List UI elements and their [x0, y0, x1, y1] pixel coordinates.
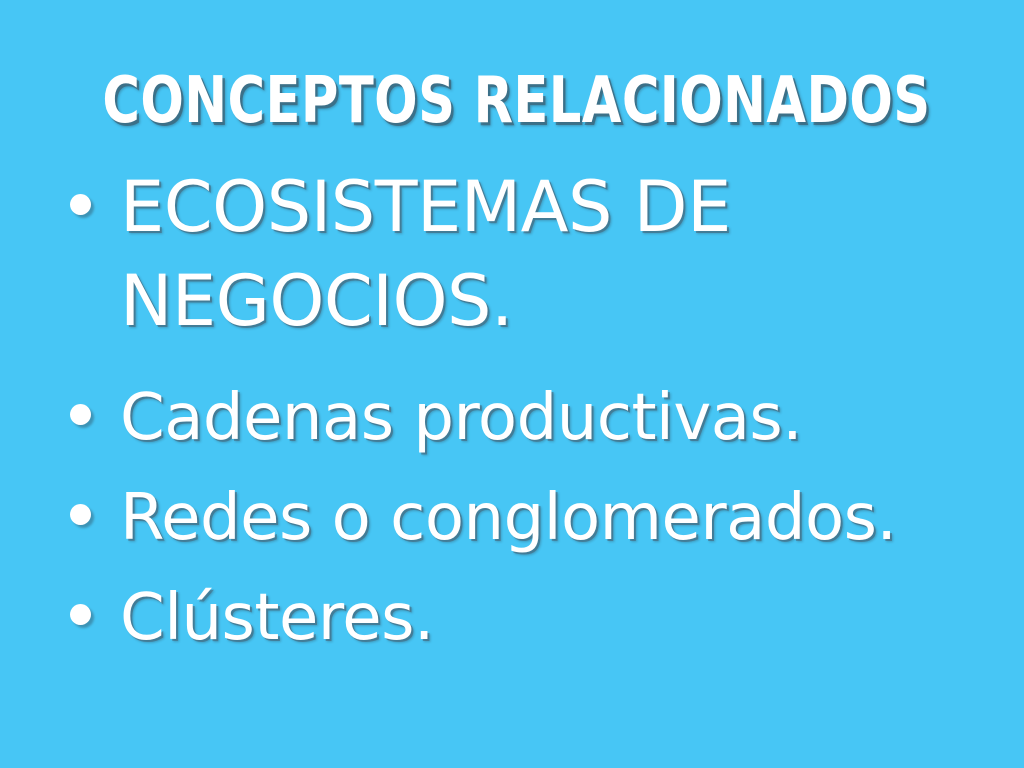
list-item: Cadenas productivas.: [58, 368, 1008, 468]
round-bullet-icon: [70, 194, 91, 215]
list-item: Clústeres.: [58, 568, 1008, 668]
list-item: ECOSISTEMAS DE NEGOCIOS.: [58, 160, 780, 348]
list-item-label: Redes o conglomerados.: [120, 468, 1008, 568]
list-item-label: Clústeres.: [120, 568, 1008, 668]
round-bullet-icon: [70, 404, 91, 425]
list-item-label: ECOSISTEMAS DE NEGOCIOS.: [120, 160, 780, 348]
list-item-label: Cadenas productivas.: [120, 368, 1008, 468]
list-item: Redes o conglomerados.: [58, 468, 1008, 568]
bullet-list: ECOSISTEMAS DE NEGOCIOS. Cadenas product…: [58, 160, 1008, 668]
round-bullet-icon: [70, 604, 91, 625]
slide-canvas: CONCEPTOS RELACIONADOS ECOSISTEMAS DE NE…: [0, 0, 1024, 768]
page-title: CONCEPTOS RELACIONADOS: [102, 65, 921, 137]
round-bullet-icon: [70, 504, 91, 525]
